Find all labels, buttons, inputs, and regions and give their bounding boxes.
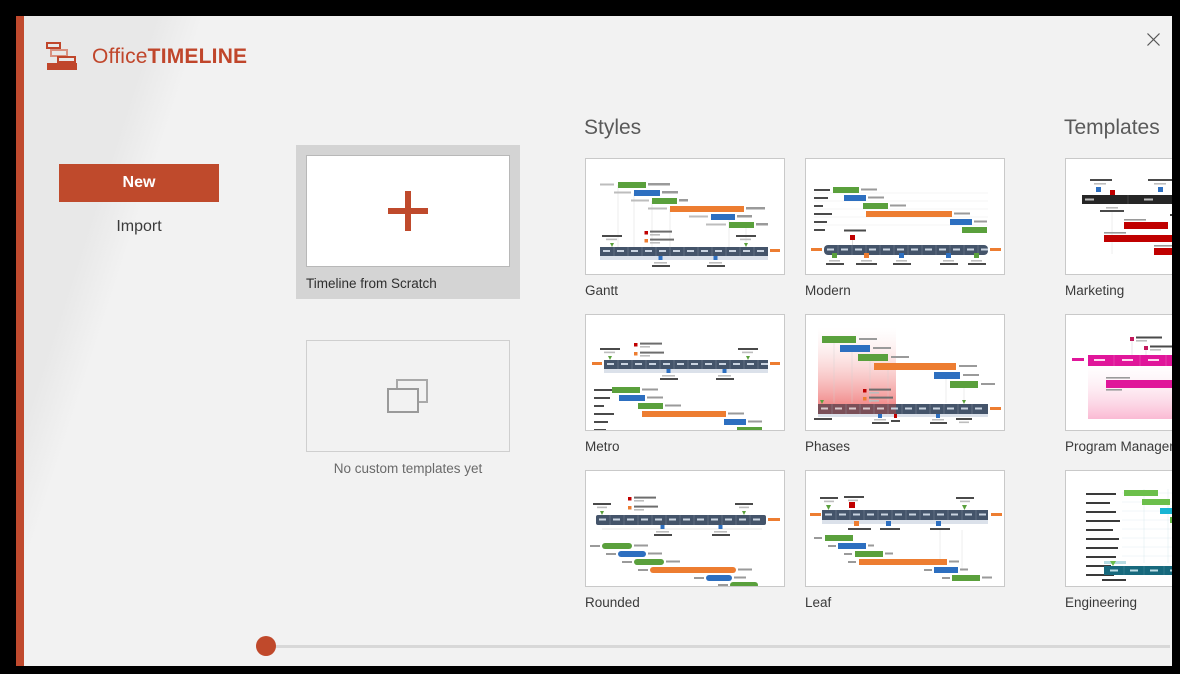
styles-section-title: Styles <box>584 116 641 140</box>
style-label-metro: Metro <box>585 439 785 454</box>
brand-name-bold: TIMELINE <box>148 45 248 68</box>
phases-style-thumbnail[interactable] <box>805 314 1005 431</box>
rounded-style-thumbnail[interactable] <box>585 470 785 587</box>
gantt-style-thumbnail[interactable] <box>585 158 785 275</box>
style-label-phases: Phases <box>805 439 1005 454</box>
template-card-program-management[interactable]: Program Management <box>1065 314 1180 454</box>
left-accent-stripe <box>16 16 24 674</box>
template-label-marketing: Marketing <box>1065 283 1180 298</box>
modern-style-thumbnail[interactable] <box>805 158 1005 275</box>
no-custom-templates-card: No custom templates yet <box>296 330 520 484</box>
template-card-marketing[interactable]: Marketing <box>1065 158 1180 298</box>
templates-section-title: Templates <box>1064 116 1160 140</box>
no-custom-templates-thumbnail <box>306 340 510 452</box>
style-card-rounded[interactable]: Rounded <box>585 470 785 610</box>
sidebar-item-import[interactable]: Import <box>59 215 219 239</box>
template-label-program-management: Program Management <box>1065 439 1180 454</box>
sidebar-item-new[interactable]: New <box>59 164 219 202</box>
timeline-from-scratch-thumbnail[interactable] <box>306 155 510 267</box>
template-card-engineering[interactable]: Engineering <box>1065 470 1180 610</box>
brand-name-light: Office <box>92 45 148 68</box>
program-management-template-thumbnail[interactable] <box>1065 314 1180 431</box>
marketing-template-thumbnail[interactable] <box>1065 158 1180 275</box>
horizontal-scrollbar-track[interactable] <box>256 645 1170 648</box>
style-card-phases[interactable]: Phases <box>805 314 1005 454</box>
engineering-template-thumbnail[interactable] <box>1065 470 1180 587</box>
style-label-rounded: Rounded <box>585 595 785 610</box>
timeline-from-scratch-card[interactable]: Timeline from Scratch <box>296 145 520 299</box>
template-label-engineering: Engineering <box>1065 595 1180 610</box>
timeline-from-scratch-label: Timeline from Scratch <box>306 276 510 291</box>
style-label-leaf: Leaf <box>805 595 1005 610</box>
leaf-style-thumbnail[interactable] <box>805 470 1005 587</box>
close-icon[interactable] <box>1136 24 1170 54</box>
office-timeline-window: OfficeTIMELINE New Import Timeline from … <box>0 0 1180 674</box>
style-card-gantt[interactable]: Gantt <box>585 158 785 298</box>
plus-icon <box>388 191 428 231</box>
style-card-metro[interactable]: Metro <box>585 314 785 454</box>
brand-logo: OfficeTIMELINE <box>46 42 247 72</box>
style-card-leaf[interactable]: Leaf <box>805 470 1005 610</box>
stacked-windows-icon <box>387 379 429 413</box>
style-label-gantt: Gantt <box>585 283 785 298</box>
horizontal-scrollbar-thumb[interactable] <box>256 636 276 656</box>
style-card-modern[interactable]: Modern <box>805 158 1005 298</box>
no-custom-templates-label: No custom templates yet <box>306 461 510 476</box>
gantt-bars-logo-icon <box>46 42 80 72</box>
dialog-content: OfficeTIMELINE New Import Timeline from … <box>24 16 1180 674</box>
style-label-modern: Modern <box>805 283 1005 298</box>
brand-name: OfficeTIMELINE <box>92 45 247 69</box>
metro-style-thumbnail[interactable] <box>585 314 785 431</box>
left-pane-background <box>24 16 284 674</box>
